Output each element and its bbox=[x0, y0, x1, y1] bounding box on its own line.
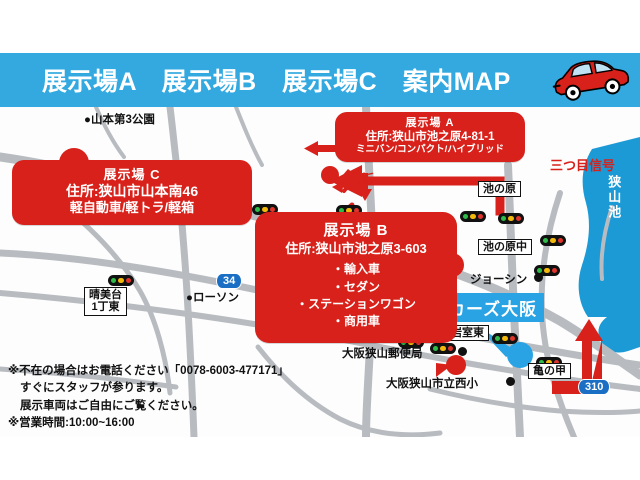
label-harumidai: 晴美台 1丁東 bbox=[84, 287, 127, 316]
marker-dot-a bbox=[321, 166, 339, 184]
label-lawson: ●ローソン bbox=[186, 289, 239, 305]
signal-icon bbox=[460, 211, 486, 222]
callout-b-anchor-dot bbox=[446, 355, 466, 375]
signal-icon bbox=[492, 333, 518, 344]
header-banner: 展示場A 展示場B 展示場C 案内MAP bbox=[0, 53, 640, 107]
signal-icon bbox=[430, 343, 456, 354]
callout-c-subtitle: 軽自動車/軽トラ/軽箱 bbox=[16, 200, 248, 216]
joshin-marker-dot bbox=[534, 273, 543, 282]
label-kame-no-ko: 亀の甲 bbox=[528, 363, 571, 379]
label-ikenohara-naka: 池の原中 bbox=[478, 239, 532, 255]
nishi-elementary-marker-dot bbox=[506, 377, 515, 386]
label-post-office: 大阪狭山郵便局 bbox=[342, 345, 423, 361]
callout-exhibition-a: 展示場 A 住所:狭山市池之原4-81-1 ミニバン/コンパクト/ハイブリッド bbox=[335, 112, 525, 162]
note-line-3: 展示車両はご自由にご覧ください。 bbox=[8, 398, 289, 415]
callout-c-title: 展示場 C bbox=[16, 167, 248, 183]
label-usetsu: 右折 bbox=[348, 169, 374, 188]
red-car-icon bbox=[545, 55, 633, 103]
label-mitsume-shingo: 三つ目信号 bbox=[550, 155, 615, 174]
label-yamamoto-park: ●山本第3公園 bbox=[84, 111, 155, 127]
callout-b-address: 住所:狭山市池之原3-603 bbox=[261, 241, 451, 257]
route-shield-310: 310 bbox=[578, 379, 610, 395]
label-nishi-elementary: 大阪狭山市立西小 bbox=[386, 375, 478, 391]
callout-b-item: ・セダン bbox=[261, 279, 451, 296]
lake-label: 狭山池 bbox=[606, 175, 620, 220]
route-shield-34: 34 bbox=[216, 273, 242, 289]
signal-icon bbox=[498, 213, 524, 224]
note-line-2: すぐにスタッフが参ります。 bbox=[8, 380, 289, 397]
callout-a-title: 展示場 A bbox=[339, 117, 521, 130]
page-title: 展示場A 展示場B 展示場C 案内MAP bbox=[42, 62, 511, 98]
callout-b-item: ・ステーションワゴン bbox=[261, 296, 451, 313]
note-line-4: ※営業時間:10:00~16:00 bbox=[8, 415, 289, 432]
notes-block: ※不在の場合はお電話ください「0078-6003-477171」 すぐにスタッフ… bbox=[8, 363, 289, 432]
callout-b-title: 展示場 B bbox=[261, 222, 451, 240]
signal-icon bbox=[540, 235, 566, 246]
label-ikenohara: 池の原 bbox=[478, 181, 521, 197]
callout-exhibition-b: 展示場 B 住所:狭山市池之原3-603 ・輸入車 ・セダン ・ステーションワゴ… bbox=[255, 212, 457, 343]
signal-icon bbox=[108, 275, 134, 286]
callout-a-subtitle: ミニバン/コンパクト/ハイブリッド bbox=[339, 144, 521, 156]
map-flyer: 展示場A 展示場B 展示場C 案内MAP bbox=[0, 0, 640, 480]
label-joshin: ジョーシン bbox=[470, 271, 527, 287]
callout-c-address: 住所:狭山市山本南46 bbox=[16, 183, 248, 200]
callout-b-item: ・商用車 bbox=[261, 313, 451, 330]
post-office-marker-dot bbox=[458, 347, 467, 356]
note-line-1: ※不在の場合はお電話ください「0078-6003-477171」 bbox=[8, 363, 289, 380]
callout-b-item: ・輸入車 bbox=[261, 261, 451, 278]
callout-a-address: 住所:狭山市池之原4-81-1 bbox=[339, 130, 521, 144]
callout-exhibition-c: 展示場 C 住所:狭山市山本南46 軽自動車/軽トラ/軽箱 bbox=[12, 160, 252, 225]
